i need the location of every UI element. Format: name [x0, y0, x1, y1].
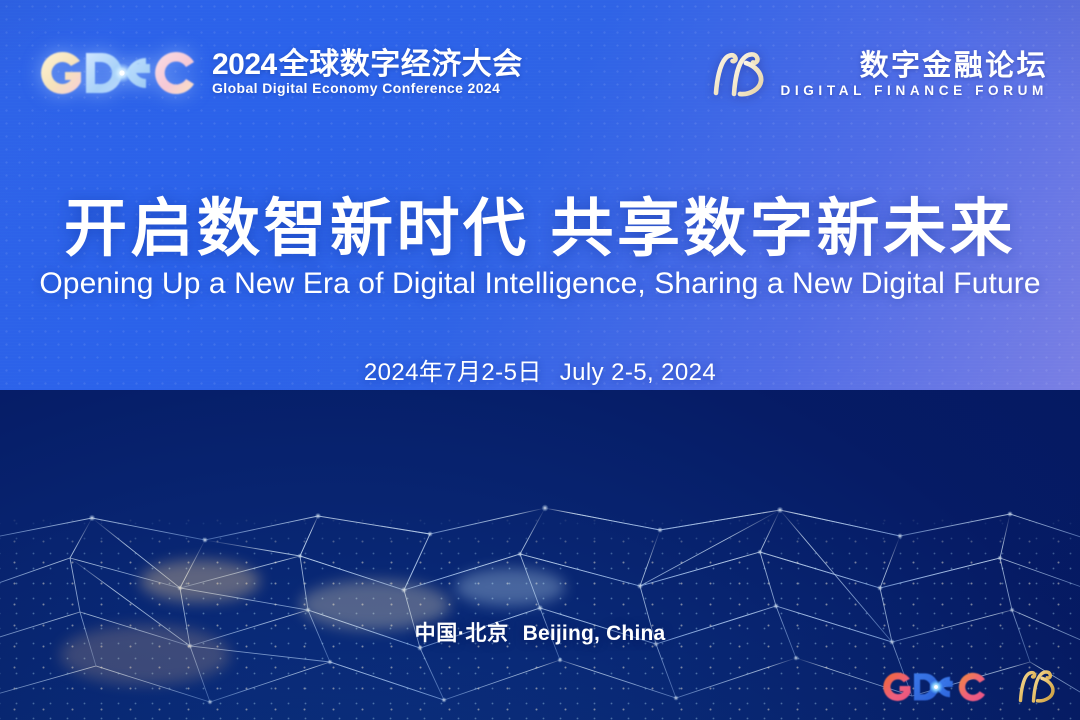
- main-headline-cn: 开启数智新时代 共享数字新未来: [0, 196, 1080, 262]
- gdec-title-cn-rest: 全球数字经济大会: [279, 48, 523, 81]
- gdec-title-en: Global Digital Economy Conference 2024: [212, 81, 518, 97]
- gdec-logo-text: 2024全球数字经济大会 Global Digital Economy Conf…: [212, 49, 523, 97]
- main-subheadline-en: Opening Up a New Era of Digital Intellig…: [0, 267, 1080, 301]
- gdec-logo: 2024全球数字经济大会 Global Digital Economy Conf…: [36, 48, 523, 98]
- gdec-logo-mark-icon: [36, 48, 199, 98]
- footer-logos: [880, 668, 1058, 706]
- event-date-cn: 2024年7月2-5日: [364, 359, 542, 386]
- event-location: 中国·北京Beijing, China: [0, 617, 1080, 647]
- dff-title-en: DIGITAL FINANCE FORUM: [780, 83, 1048, 98]
- ff-monogram-icon: [710, 49, 768, 101]
- dff-title-cn: 数字金融论坛: [860, 52, 1048, 82]
- gdec-title-cn: 2024全球数字经济大会: [212, 49, 523, 80]
- conference-backdrop: 2024全球数字经济大会 Global Digital Economy Conf…: [0, 0, 1080, 720]
- event-date-en: July 2-5, 2024: [560, 359, 716, 386]
- gdec-title-year: 2024: [212, 48, 277, 81]
- corner-ff-monogram-icon: [1016, 668, 1058, 706]
- event-dateline: 2024年7月2-5日July 2-5, 2024: [0, 352, 1080, 387]
- digital-finance-forum-logo: 数字金融论坛 DIGITAL FINANCE FORUM: [710, 49, 1048, 101]
- event-location-cn: 中国·北京: [415, 622, 509, 645]
- event-location-en: Beijing, China: [523, 622, 666, 645]
- dff-logo-text: 数字金融论坛 DIGITAL FINANCE FORUM: [780, 52, 1048, 99]
- corner-gdec-logo-icon: [880, 670, 990, 704]
